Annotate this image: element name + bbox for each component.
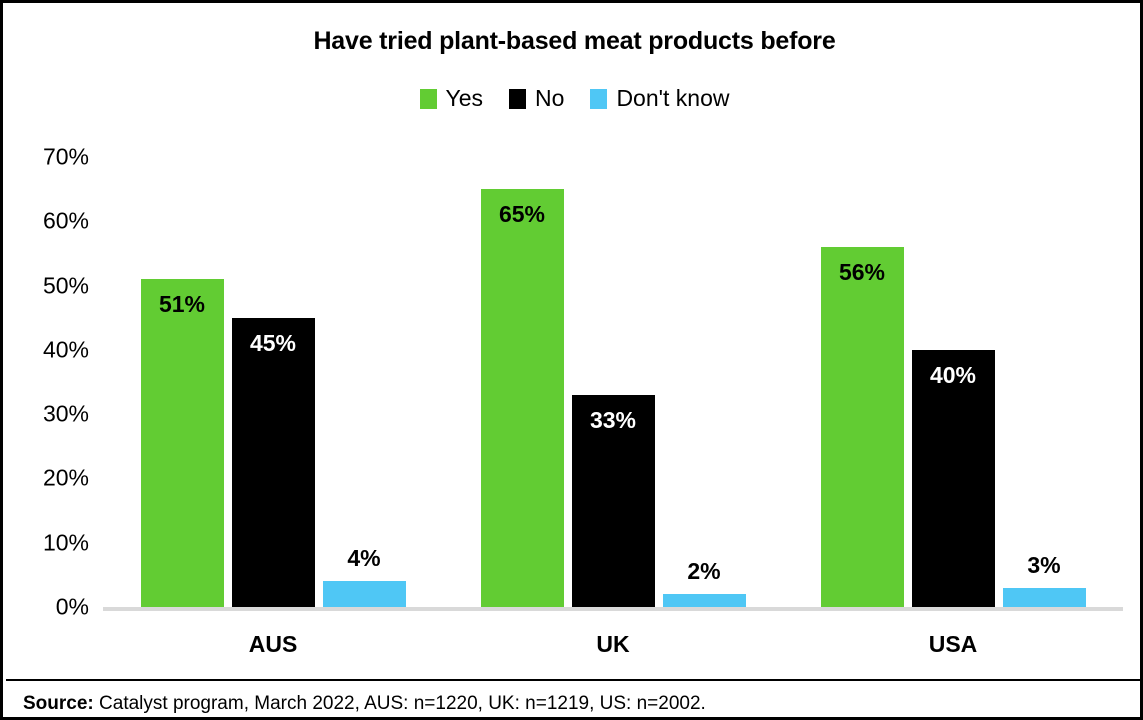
bar-uk-dont-know[interactable]: 2% xyxy=(663,594,746,607)
chart-container: Have tried plant-based meat products bef… xyxy=(0,0,1143,720)
bar-value-label: 2% xyxy=(663,558,746,585)
bar-aus-dont-know[interactable]: 4% xyxy=(323,581,406,607)
bar-value-label: 3% xyxy=(1003,552,1086,579)
legend-item-dont-know[interactable]: Don't know xyxy=(590,87,729,110)
y-axis-tick-label: 40% xyxy=(43,336,89,363)
legend-swatch-no xyxy=(509,89,526,109)
y-axis-tick-label: 70% xyxy=(43,144,89,171)
y-axis-tick-label: 0% xyxy=(56,594,89,621)
y-axis-tick-label: 30% xyxy=(43,401,89,428)
y-axis-tick-label: 20% xyxy=(43,465,89,492)
legend-item-no[interactable]: No xyxy=(509,87,564,110)
source-text: Catalyst program, March 2022, AUS: n=122… xyxy=(99,693,706,714)
bar-value-label: 45% xyxy=(232,330,315,357)
y-axis-tick-label: 50% xyxy=(43,272,89,299)
y-axis: 70%60%50%40%30%20%10%0% xyxy=(3,3,103,720)
bar-uk-no[interactable]: 33% xyxy=(572,395,655,607)
source-label: Source: xyxy=(23,693,94,714)
y-axis-tick-label: 10% xyxy=(43,529,89,556)
chart-title: Have tried plant-based meat products bef… xyxy=(3,27,1143,56)
legend-swatch-dont-know xyxy=(590,89,607,109)
legend-item-yes[interactable]: Yes xyxy=(420,87,484,110)
bar-usa-dont-know[interactable]: 3% xyxy=(1003,588,1086,607)
plot-area: 51%45%4%65%33%2%56%40%3% xyxy=(103,157,1123,607)
bar-usa-no[interactable]: 40% xyxy=(912,350,995,607)
x-axis-baseline xyxy=(103,607,1123,611)
bar-value-label: 33% xyxy=(572,407,655,434)
chart-legend: Yes No Don't know xyxy=(3,87,1143,110)
x-axis-category-label-uk: UK xyxy=(443,631,783,658)
bar-value-label: 4% xyxy=(323,545,406,572)
bar-value-label: 40% xyxy=(912,362,995,389)
bar-aus-no[interactable]: 45% xyxy=(232,318,315,607)
bar-value-label: 56% xyxy=(821,259,904,286)
bar-value-label: 65% xyxy=(481,201,564,228)
bar-usa-yes[interactable]: 56% xyxy=(821,247,904,607)
bar-value-label: 51% xyxy=(141,291,224,318)
footer-divider xyxy=(6,679,1143,681)
bar-aus-yes[interactable]: 51% xyxy=(141,279,224,607)
legend-label-no: No xyxy=(535,87,564,110)
legend-label-yes: Yes xyxy=(446,87,484,110)
x-axis-category-label-usa: USA xyxy=(783,631,1123,658)
x-axis-category-label-aus: AUS xyxy=(103,631,443,658)
source-note: Source: Catalyst program, March 2022, AU… xyxy=(23,693,706,715)
bar-uk-yes[interactable]: 65% xyxy=(481,189,564,607)
legend-swatch-yes xyxy=(420,89,437,109)
legend-label-dont-know: Don't know xyxy=(616,87,729,110)
y-axis-tick-label: 60% xyxy=(43,208,89,235)
